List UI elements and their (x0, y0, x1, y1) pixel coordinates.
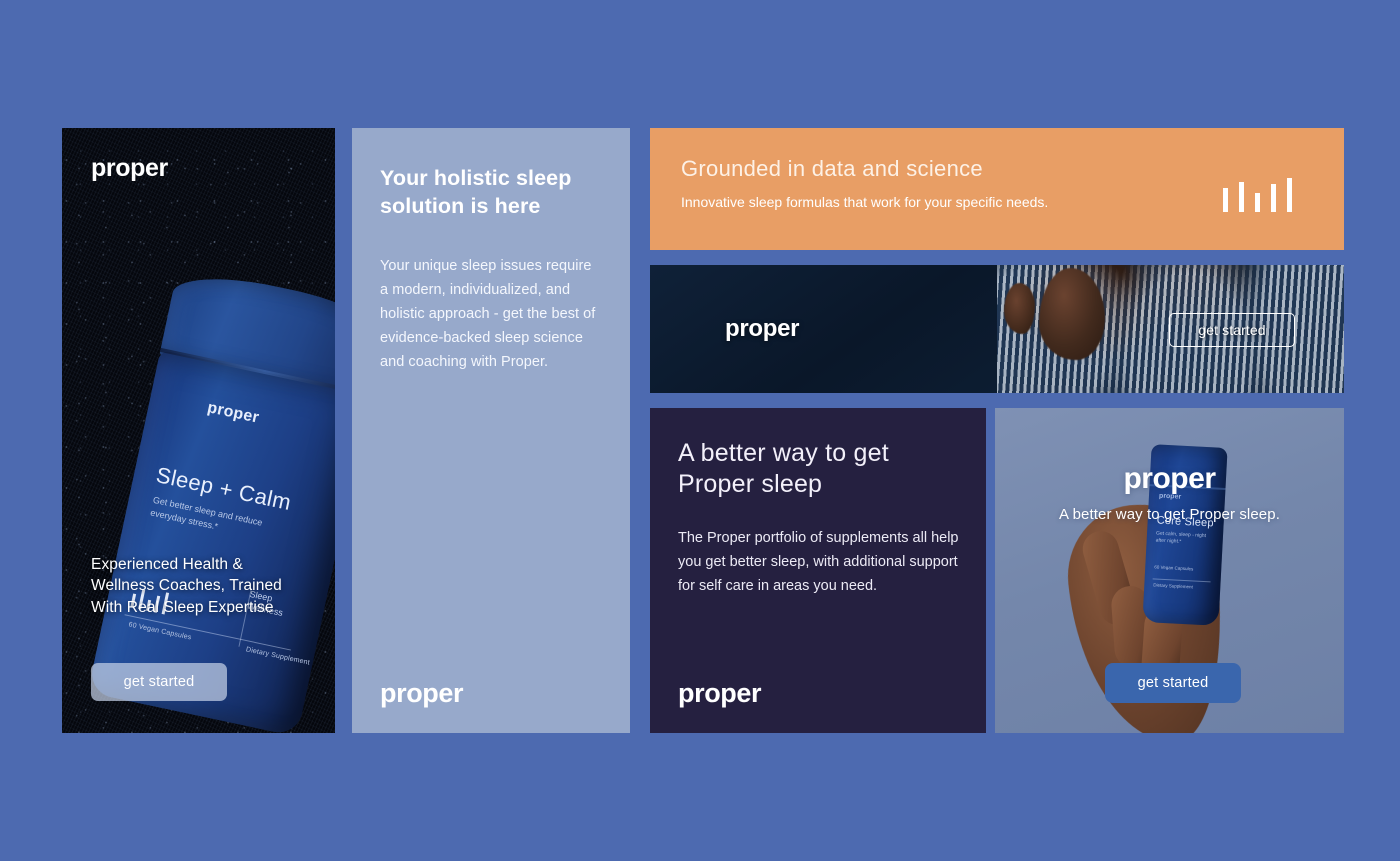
card-hand-product: proper Core Sleep Get calm, sleep - nigh… (995, 408, 1344, 733)
wordmark-proper: proper (91, 154, 168, 183)
card-grounded-in-data: Grounded in data and science Innovative … (650, 128, 1344, 250)
card-product-photo: proper Sleep + Calm Get better sleep and… (62, 128, 335, 733)
bar-mark-icon (1223, 178, 1292, 212)
ad-creative-board: proper Sleep + Calm Get better sleep and… (0, 0, 1400, 861)
wordmark-proper: proper (380, 678, 463, 709)
card-bed-banner: proper get started (650, 265, 1344, 393)
get-started-button[interactable]: get started (91, 663, 227, 701)
better-way-body: The Proper portfolio of supplements all … (678, 526, 960, 598)
card-holistic-solution: Your holistic sleep solution is here You… (352, 128, 630, 733)
wordmark-proper: proper (995, 462, 1344, 496)
bottle-divider-horizontal (1153, 578, 1211, 582)
card-better-way: A better way to get Proper sleep The Pro… (650, 408, 986, 733)
wordmark-proper: proper (725, 315, 799, 343)
wordmark-proper: proper (678, 678, 761, 709)
better-way-heading: A better way to get Proper sleep (678, 438, 960, 500)
bottle-capsule-count: 60 Vegan Capsules (1154, 564, 1193, 571)
product-card-headline: Experienced Health & Wellness Coaches, T… (91, 554, 306, 619)
bottle-product-subtitle: Get calm, sleep - night after night.* (1155, 530, 1216, 547)
get-started-button[interactable]: get started (1169, 313, 1295, 347)
holistic-heading: Your holistic sleep solution is here (380, 164, 602, 220)
get-started-button[interactable]: get started (1105, 663, 1241, 703)
holistic-body: Your unique sleep issues require a moder… (380, 254, 602, 374)
sleeping-person-head (1039, 268, 1105, 360)
hand-card-tagline: A better way to get Proper sleep. (995, 506, 1344, 523)
bottle-supplement-label: Dietary Supplement (1153, 582, 1193, 589)
sleeping-person-arm (1004, 283, 1035, 334)
bed-sheet-background (650, 265, 1039, 393)
